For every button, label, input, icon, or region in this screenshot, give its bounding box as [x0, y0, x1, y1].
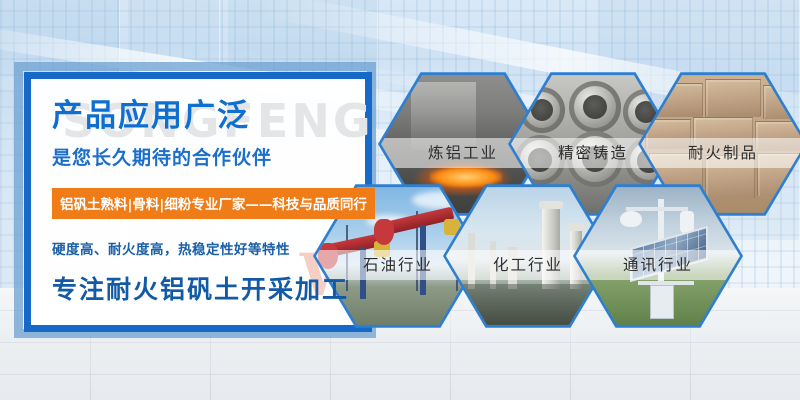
headline: 产品应用广泛: [52, 96, 382, 136]
hex-label: 耐火制品: [641, 138, 800, 168]
promo-banner: SONGFENG 产品应用广泛 是您长久期待的合作伙伴 铝矾土熟料|骨料|细粉专…: [0, 0, 800, 400]
tagline-badge: 铝矾土熟料|骨料|细粉专业厂家——科技与品质同行: [52, 188, 375, 219]
focus-line: 专注耐火铝矾土开采加工: [52, 270, 382, 306]
subheadline: 是您长久期待的合作伙伴: [52, 143, 382, 170]
hex-label: 通讯行业: [576, 250, 740, 280]
text-block: SONGFENG 产品应用广泛 是您长久期待的合作伙伴 铝矾土熟料|骨料|细粉专…: [52, 96, 382, 306]
feature-line: 硬度高、耐火度高，热稳定性好等特性: [52, 238, 382, 258]
